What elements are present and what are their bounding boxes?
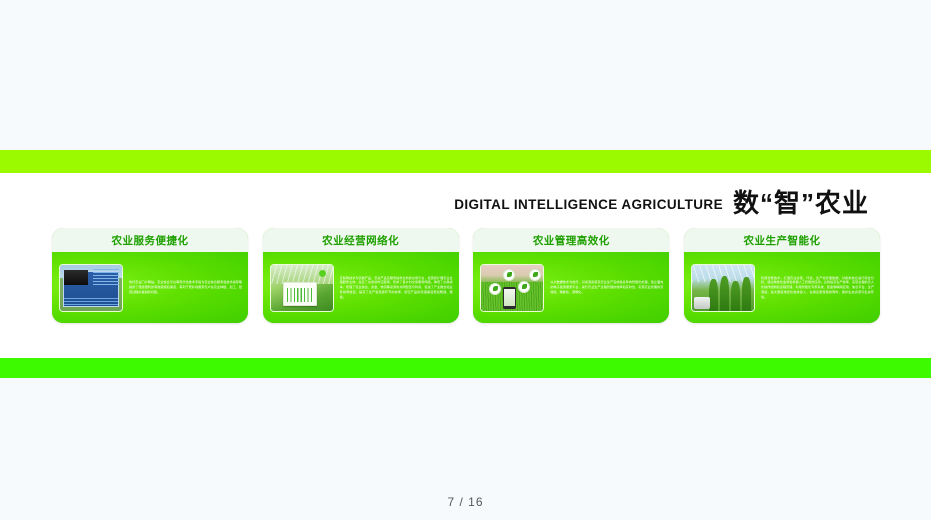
card-body: 互联网技术为农副产品、农资产品及服务提供全新的交易平台，拓宽和扩展农业全程服务主… [263,252,459,323]
card-description: 互联网技术为农副产品、农资产品及服务提供全新的交易平台，拓宽和扩展农业全程服务主… [340,276,453,300]
smartphone-iot-image [480,264,544,312]
card-title: 农业生产智能化 [743,233,820,248]
card-row: 农业服务便捷化 依托农业门户网站、农业信息平台等现代化技术手段为农业信息服务和技… [52,228,880,323]
slide-bottom-padding [0,378,931,490]
card-body: 依托农业门户网站、农业信息平台等现代化技术手段为农业信息服务和技术指导等提供了便… [52,252,248,323]
bottom-green-band [0,358,931,378]
slide-canvas: DIGITAL INTELLIGENCE AGRICULTURE 数“智”农业 … [0,0,931,490]
card-body: 利用智能技术，打通农业资源、环境、生产和管理数据，对各类信息进行综合分析，通过精… [684,252,880,323]
card-title: 农业管理高效化 [533,233,610,248]
card-description: 利用智能技术，打通农业资源、环境、生产和管理数据，对各类信息进行综合分析，通过精… [761,276,874,300]
card-agriculture-operation[interactable]: 农业经营网络化 互联网技术为农副产品、农资产品及服务提供全新的交易平台，拓宽和扩… [263,228,459,323]
slide-top-padding [0,0,931,150]
card-header: 农业管理高效化 [473,228,669,252]
card-title: 农业服务便捷化 [112,233,189,248]
card-agriculture-production[interactable]: 农业生产智能化 利用智能技术，打通农业资源、环境、生产和管理数据，对各类信息进行… [684,228,880,323]
top-green-band [0,150,931,173]
tablet-greenhouse-image [270,264,334,312]
slide-title: DIGITAL INTELLIGENCE AGRICULTURE 数“智”农业 [454,190,869,216]
slide-title-chinese: 数“智”农业 [733,190,869,216]
portal-website-screenshot-image [59,264,123,312]
page-indicator[interactable]: 7 / 16 [0,495,931,509]
card-header: 农业服务便捷化 [52,228,248,252]
greenhouse-automation-image [691,264,755,312]
card-header: 农业生产智能化 [684,228,880,252]
card-header: 农业经营网络化 [263,228,459,252]
card-body: 以大数据技术为依托，对资源资源及农业生产完成信息导向智能化处理，建立面向的电子政… [473,252,669,323]
card-title: 农业经营网络化 [322,233,399,248]
slide-title-english: DIGITAL INTELLIGENCE AGRICULTURE [454,197,723,216]
card-agriculture-management[interactable]: 农业管理高效化 以大数据技术为依托，对资源资源及农业生产完成信息导向智能化处理，… [473,228,669,323]
card-description: 依托农业门户网站、农业信息平台等现代化技术手段为农业信息服务和技术指导等提供了便… [129,280,242,294]
card-agriculture-service[interactable]: 农业服务便捷化 依托农业门户网站、农业信息平台等现代化技术手段为农业信息服务和技… [52,228,248,323]
card-description: 以大数据技术为依托，对资源资源及农业生产完成信息导向智能化处理，建立面向的电子政… [550,280,663,294]
